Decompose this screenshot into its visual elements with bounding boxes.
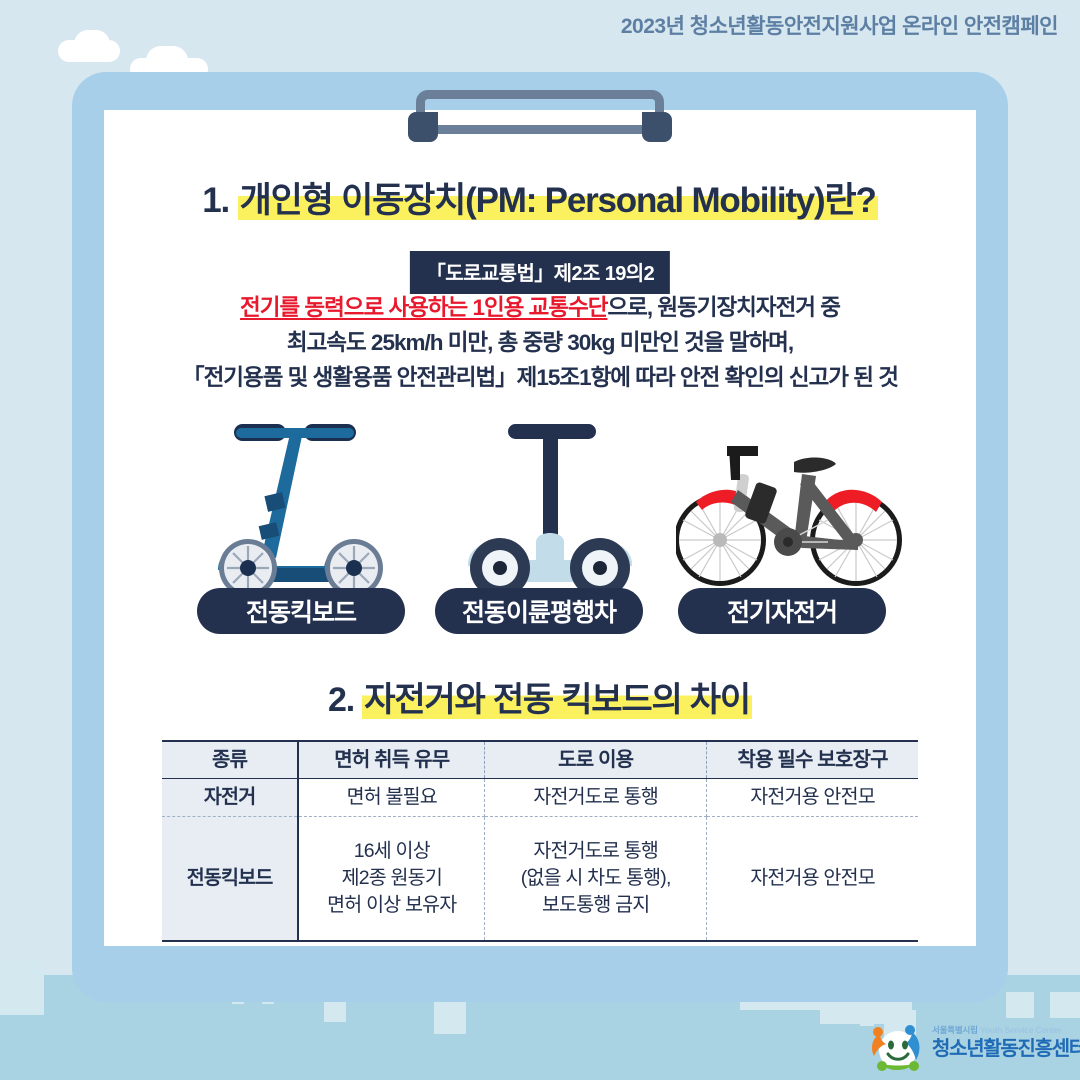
electric-kickboard-illustration	[196, 420, 406, 600]
table-row: 자전거 면허 불필요 자전거도로 통행 자전거용 안전모	[162, 779, 918, 817]
table-cell-type: 자전거	[162, 779, 298, 817]
self-balancing-scooter-icon	[450, 420, 650, 600]
youth-center-smile-logo-icon	[866, 1022, 928, 1074]
electric-kickboard-icon	[196, 420, 406, 600]
section1-title-text: 개인형 이동장치(PM: Personal Mobility)란?	[238, 181, 878, 220]
table-cell-license: 16세 이상 제2종 원동기 면허 이상 보유자	[298, 817, 485, 941]
cell-line: 자전거도로 통행	[485, 838, 706, 865]
table-header-cell: 종류	[162, 741, 298, 779]
definition-line-1-rest: 으로, 원동기장치자전거 중	[607, 295, 839, 320]
logo-text-block: 서울특별시립 Youth Service Center 청소년활동진흥센터	[932, 1024, 1080, 1061]
section1-number: 1.	[202, 181, 229, 220]
skyline-block	[0, 960, 44, 1015]
self-balancing-scooter-illustration	[450, 420, 650, 600]
section2-number: 2.	[328, 681, 354, 719]
table-cell-road: 자전거도로 통행	[485, 779, 707, 817]
section2-title-text: 자전거와 전동 킥보드의 차이	[362, 681, 752, 719]
clipboard-clip-icon	[408, 90, 672, 142]
cell-line: 보도통행 금지	[485, 892, 706, 919]
table-header-cell: 착용 필수 보호장구	[707, 741, 918, 779]
table-cell-gear: 자전거용 안전모	[707, 779, 918, 817]
comparison-table: 종류 면허 취득 유무 도로 이용 착용 필수 보호장구 자전거 면허 불필요 …	[162, 740, 918, 942]
definition-line-2: 최고속도 25km/h 미만, 총 중량 30kg 미만인 것을 말하며,	[0, 325, 1080, 360]
table-row: 전동킥보드 16세 이상 제2종 원동기 면허 이상 보유자 자전거도로 통행 …	[162, 817, 918, 941]
table-header-row: 종류 면허 취득 유무 도로 이용 착용 필수 보호장구	[162, 741, 918, 779]
table-cell-road: 자전거도로 통행 (없을 시 차도 통행), 보도통행 금지	[485, 817, 707, 941]
law-reference-badge: 「도로교통법」제2조 19의2	[410, 251, 670, 294]
cell-line: 제2종 원동기	[299, 865, 484, 892]
electric-bicycle-illustration	[676, 432, 906, 600]
skyline-block	[1050, 992, 1080, 1018]
logo-subtitle: 서울특별시립 Youth Service Center	[932, 1024, 1080, 1036]
campaign-caption: 2023년 청소년활동안전지원사업 온라인 안전캠페인	[621, 10, 1058, 40]
definition-line-1: 전기를 동력으로 사용하는 1인용 교통수단으로, 원동기장치자전거 중	[0, 290, 1080, 325]
table-header-cell: 도로 이용	[485, 741, 707, 779]
table-cell-gear: 자전거용 안전모	[707, 817, 918, 941]
vehicle-label-pill: 전동이륜평행차	[435, 588, 643, 634]
definition-line-3: 「전기용품 및 생활용품 안전관리법」제15조1항에 따라 안전 확인의 신고가…	[0, 360, 1080, 395]
section2-title: 2. 자전거와 전동 킥보드의 차이	[0, 672, 1080, 721]
table-cell-type: 전동킥보드	[162, 817, 298, 941]
vehicle-label-pill: 전기자전거	[678, 588, 886, 634]
table-header-cell: 면허 취득 유무	[298, 741, 485, 779]
cloud-icon	[74, 30, 110, 58]
vehicle-label-pill: 전동킥보드	[197, 588, 405, 634]
logo-subtitle-en: Youth Service Center	[980, 1025, 1061, 1035]
cell-line: 16세 이상	[299, 838, 484, 865]
table-cell-license: 면허 불필요	[298, 779, 485, 817]
definition-text: 전기를 동력으로 사용하는 1인용 교통수단으로, 원동기장치자전거 중 최고속…	[0, 290, 1080, 395]
definition-highlight-red: 전기를 동력으로 사용하는 1인용 교통수단	[240, 295, 607, 320]
footer-logo: 서울특별시립 Youth Service Center 청소년활동진흥센터	[866, 1022, 1072, 1074]
cell-line: 면허 이상 보유자	[299, 892, 484, 919]
infographic-canvas: 2023년 청소년활동안전지원사업 온라인 안전캠페인 1. 개인형 이동장치(…	[0, 0, 1080, 1080]
cell-line: (없을 시 차도 통행),	[485, 865, 706, 892]
vehicle-illustrations: 전동킥보드 전동이륜평행차 전기자전거	[0, 420, 1080, 640]
electric-bicycle-icon	[676, 432, 906, 600]
logo-subtitle-ko: 서울특별시립	[932, 1025, 978, 1035]
section1-title: 1. 개인형 이동장치(PM: Personal Mobility)란?	[0, 172, 1080, 223]
skyline-block	[1006, 992, 1034, 1018]
logo-name: 청소년활동진흥센터	[932, 1037, 1080, 1061]
